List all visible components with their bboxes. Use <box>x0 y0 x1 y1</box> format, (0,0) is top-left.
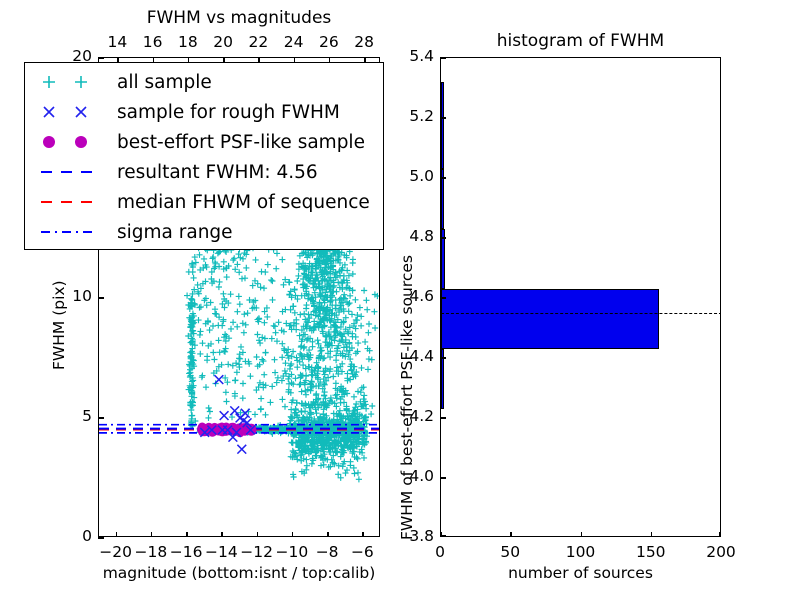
legend-label: median FHWM of sequence <box>117 192 370 213</box>
histogram-xtick <box>581 532 583 537</box>
legend-label: best-effort PSF-like sample <box>117 132 365 153</box>
scatter-xtick <box>221 532 223 537</box>
scatter-xtick <box>257 532 259 537</box>
histogram-xticklabel: 100 <box>549 543 613 561</box>
histogram-xlabel: number of sources <box>440 564 721 582</box>
legend-box: all samplesample for rough FWHMbest-effo… <box>24 62 384 250</box>
histogram-xticklabel: 200 <box>689 543 753 561</box>
histogram-ytick <box>440 177 446 179</box>
legend-marker-dashed-line <box>31 157 117 187</box>
scatter-xtick <box>362 532 364 537</box>
histogram-title: histogram of FWHM <box>440 31 721 51</box>
scatter-xticklabel: −6 <box>330 543 394 561</box>
scatter-yticklabel: 0 <box>50 527 92 545</box>
histogram-yticklabel: 3.8 <box>392 527 434 545</box>
scatter-xtick <box>292 532 294 537</box>
histogram-xtick <box>719 532 721 537</box>
histogram-yticklabel: 4.4 <box>392 347 434 365</box>
histogram-axes <box>440 57 721 537</box>
histogram-ytick <box>440 57 446 59</box>
scatter-xlabel: magnitude (bottom:isnt / top:calib) <box>98 564 380 582</box>
scatter-xtick <box>151 532 153 537</box>
legend-marker-dashed-line <box>31 187 117 217</box>
histogram-yticklabel: 5.0 <box>392 167 434 185</box>
scatter-xtick <box>116 532 118 537</box>
histogram-median-line <box>441 313 720 314</box>
legend-marker-plus <box>31 67 117 97</box>
histogram-ytick <box>440 297 446 299</box>
legend-label: all sample <box>117 72 212 93</box>
scatter-top-xticklabel: 28 <box>332 33 396 51</box>
histogram-ytick <box>440 477 446 479</box>
histogram-xtick <box>510 532 512 537</box>
legend-entry-4: median FHWM of sequence <box>31 187 379 217</box>
histogram-yticklabel: 4.2 <box>392 407 434 425</box>
legend-marker-circle <box>31 127 117 157</box>
legend-entry-0: all sample <box>31 67 379 97</box>
scatter-yticklabel: 5 <box>50 407 92 425</box>
legend-label: sample for rough FWHM <box>117 102 340 123</box>
scatter-xtick <box>186 532 188 537</box>
scatter-xtick <box>327 532 329 537</box>
legend-label: resultant FWHM: 4.56 <box>117 162 318 183</box>
histogram-yticklabel: 5.4 <box>392 47 434 65</box>
histogram-yticklabel: 5.2 <box>392 107 434 125</box>
histogram-xticklabel: 50 <box>478 543 542 561</box>
legend-marker-dashdot-line <box>31 217 117 247</box>
legend-marker-cross <box>31 97 117 127</box>
legend-label: sigma range <box>117 222 233 243</box>
histogram-xticklabel: 0 <box>408 543 472 561</box>
histogram-bar <box>441 82 444 169</box>
histogram-ytick <box>440 237 446 239</box>
scatter-ytick <box>98 537 104 539</box>
histogram-yticklabel: 4.0 <box>392 467 434 485</box>
legend-entry-2: best-effort PSF-like sample <box>31 127 379 157</box>
histogram-bar <box>441 289 659 349</box>
figure-canvas: FWHM vs magnitudes magnitude (bottom:isn… <box>0 0 800 600</box>
histogram-xticklabel: 150 <box>619 543 683 561</box>
legend-entry-3: resultant FWHM: 4.56 <box>31 157 379 187</box>
histogram-yticklabel: 4.8 <box>392 227 434 245</box>
legend-entry-5: sigma range <box>31 217 379 247</box>
scatter-title: FWHM vs magnitudes <box>98 8 380 28</box>
histogram-ytick <box>440 357 446 359</box>
scatter-yticklabel: 10 <box>50 287 92 305</box>
legend-entry-1: sample for rough FWHM <box>31 97 379 127</box>
scatter-ytick <box>98 297 104 299</box>
histogram-xtick <box>651 532 653 537</box>
histogram-ytick <box>440 117 446 119</box>
scatter-ytick <box>98 57 104 59</box>
histogram-ytick <box>440 535 446 537</box>
histogram-ytick <box>440 417 446 419</box>
histogram-plot-area <box>441 58 720 536</box>
histogram-yticklabel: 4.6 <box>392 287 434 305</box>
scatter-ytick <box>98 417 104 419</box>
